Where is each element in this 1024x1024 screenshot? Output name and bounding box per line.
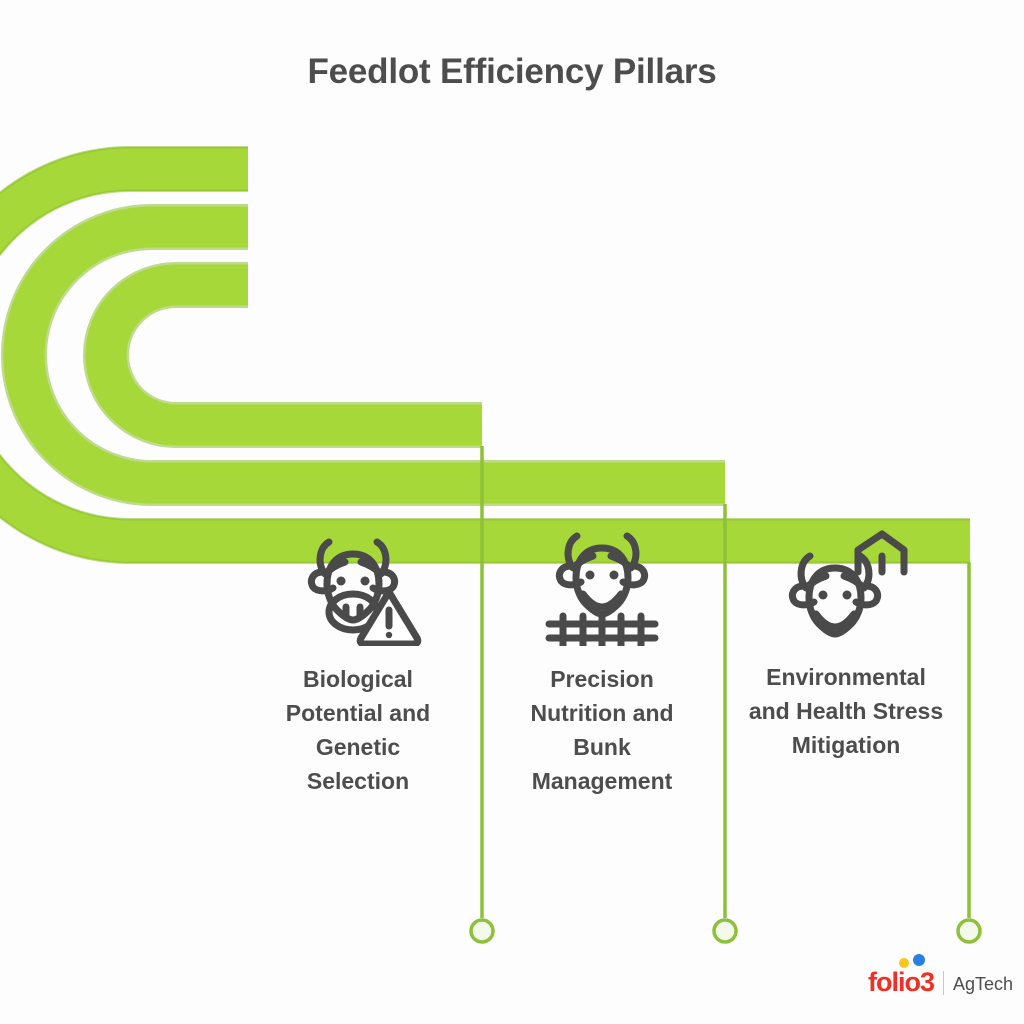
- logo-wordmark-text: folio3: [868, 967, 934, 997]
- cow-fence-icon: [541, 528, 663, 646]
- connector-endpoint-2: [714, 920, 736, 942]
- logo-wordmark-container: folio3: [868, 969, 934, 996]
- infographic-canvas: Feedlot Efficiency Pillars: [0, 0, 1024, 1024]
- pillar-environmental-health[interactable]: Environmental and Health Stress Mitigati…: [748, 528, 944, 762]
- logo-dot-blue-icon: [913, 954, 925, 966]
- ribbon-diagram: [0, 0, 1024, 1024]
- logo-dot-yellow-icon: [899, 958, 909, 968]
- logo-suffix-text: AgTech: [953, 975, 1013, 993]
- pillar-label-2: Precision Nutrition and Bunk Management: [512, 662, 692, 798]
- cow-barn-icon: [784, 528, 908, 644]
- pillar-label-3: Environmental and Health Stress Mitigati…: [748, 660, 944, 762]
- pillar-label-1: Biological Potential and Genetic Selecti…: [268, 662, 448, 798]
- logo-divider: [943, 971, 944, 995]
- cow-warning-icon: [293, 528, 423, 646]
- connector-endpoint-3: [958, 920, 980, 942]
- pillar-biological-potential[interactable]: Biological Potential and Genetic Selecti…: [268, 528, 448, 798]
- connector-endpoint-1: [471, 920, 493, 942]
- pillar-precision-nutrition[interactable]: Precision Nutrition and Bunk Management: [512, 528, 692, 798]
- folio3-agtech-logo[interactable]: folio3 AgTech: [868, 962, 1013, 996]
